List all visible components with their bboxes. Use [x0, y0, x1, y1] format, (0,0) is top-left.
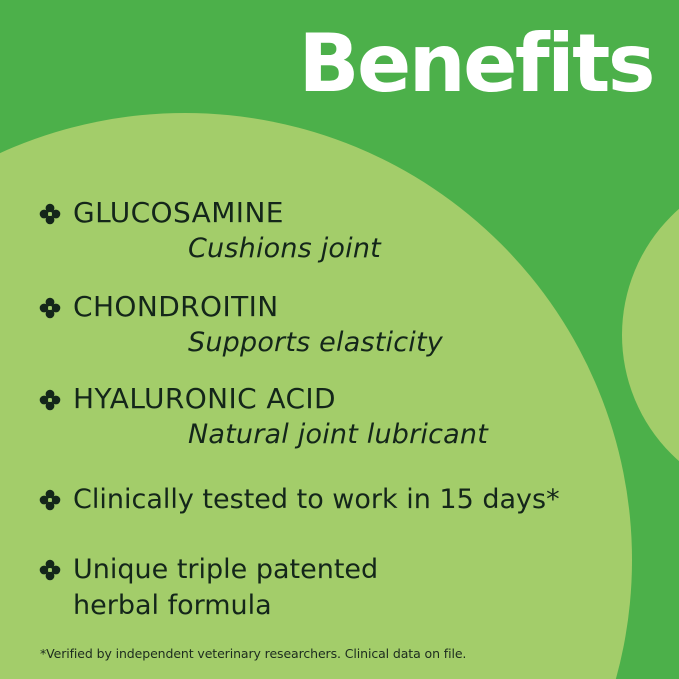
benefit-label: Clinically tested to work in 15 days* [73, 482, 560, 518]
spacer [38, 360, 639, 382]
flower-bullet-icon [38, 198, 62, 230]
benefit-description: Natural joint lubricant [38, 418, 639, 452]
page-title: Benefits [0, 24, 653, 104]
list-item-row: HYALURONIC ACID [38, 382, 639, 416]
spacer [38, 518, 639, 552]
flower-bullet-icon [38, 554, 62, 586]
list-item-row: Unique triple patented herbal formula [38, 552, 639, 624]
list-item: GLUCOSAMINE Cushions joint [38, 196, 639, 266]
list-item-row: GLUCOSAMINE [38, 196, 639, 230]
list-item: Clinically tested to work in 15 days* [38, 482, 639, 518]
benefit-label-line2: herbal formula [73, 588, 378, 624]
list-item: Unique triple patented herbal formula [38, 552, 639, 624]
benefits-poster: Benefits GLUCOSAMINE Cushions joint [0, 0, 679, 679]
benefit-label-block: Unique triple patented herbal formula [73, 552, 378, 624]
spacer [38, 266, 639, 290]
list-item: CHONDROITIN Supports elasticity [38, 290, 639, 360]
flower-bullet-icon [38, 292, 62, 324]
benefit-label: GLUCOSAMINE [73, 196, 284, 230]
flower-bullet-icon [38, 484, 62, 516]
benefit-description: Supports elasticity [38, 326, 639, 360]
benefits-list: GLUCOSAMINE Cushions joint CHONDROITIN [38, 196, 639, 624]
benefit-label: CHONDROITIN [73, 290, 279, 324]
benefit-label: Unique triple patented [73, 552, 378, 588]
benefit-description: Cushions joint [38, 232, 639, 266]
list-item: HYALURONIC ACID Natural joint lubricant [38, 382, 639, 452]
spacer [38, 452, 639, 482]
benefit-label: HYALURONIC ACID [73, 382, 336, 416]
list-item-row: CHONDROITIN [38, 290, 639, 324]
flower-bullet-icon [38, 384, 62, 416]
list-item-row: Clinically tested to work in 15 days* [38, 482, 639, 518]
footnote: *Verified by independent veterinary rese… [40, 646, 466, 662]
